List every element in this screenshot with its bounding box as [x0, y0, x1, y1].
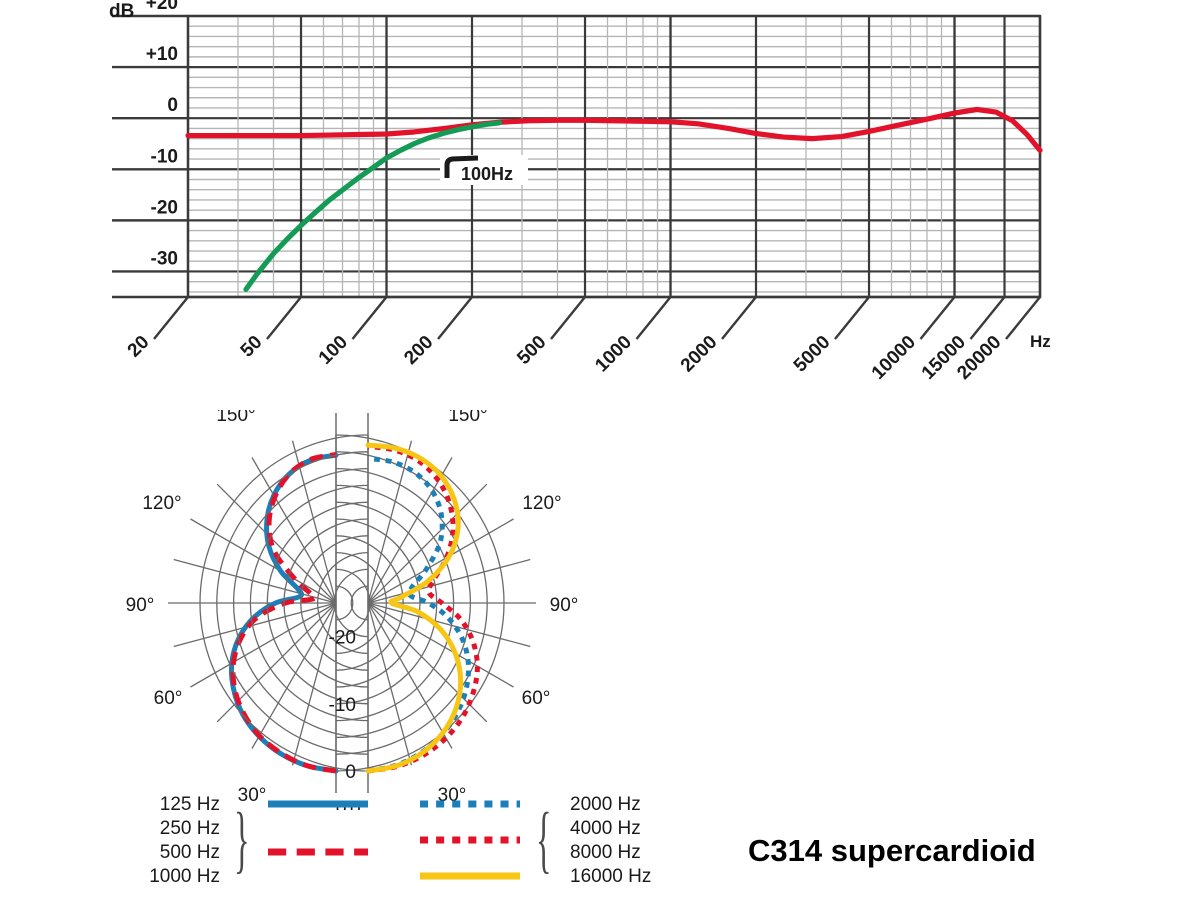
polar-db-label: 0 [345, 762, 356, 783]
x-tick-leader [267, 297, 301, 339]
x-tick-leader [551, 297, 585, 339]
polar-db-label: -20 [329, 628, 356, 649]
legend: 125 Hz250 Hz500 Hz1000 Hz} {2000 Hz4000 … [100, 788, 740, 898]
x-tick-label: 500 [513, 332, 550, 369]
polar-angle-label-right: 150° [448, 410, 487, 426]
legend-label-right: 4000 Hz [570, 818, 641, 839]
x-tick-leader [637, 297, 671, 339]
polar-grid-radial [368, 603, 411, 765]
polar-grid-radial [191, 603, 336, 687]
x-tick-leader [353, 297, 387, 339]
y-tick-label: -10 [151, 146, 178, 167]
polar-grid-radial [368, 603, 513, 687]
legend-brace-left: } [234, 796, 249, 881]
x-tick-leader [438, 297, 472, 339]
model-title-container: C314 supercardioid [748, 833, 1036, 869]
legend-label-left: 500 Hz [160, 842, 220, 863]
frequency-response-chart: +20+100-10-20-30 20501002005001000200050… [0, 0, 1200, 380]
polar-grid-ring [351, 586, 368, 620]
polar-angle-label-left: 60° [154, 688, 183, 709]
x-tick-label: 100 [315, 332, 352, 369]
spec-sheet-page: +20+100-10-20-30 20501002005001000200050… [0, 0, 1200, 900]
legend-label-left: 250 Hz [160, 818, 220, 839]
x-tick-label: 50 [237, 332, 267, 362]
legend-brace-right: { [536, 796, 551, 881]
polar-db-label: -10 [329, 695, 356, 716]
y-tick-label: -20 [151, 197, 178, 218]
x-tick-leader [154, 297, 188, 339]
hz-unit-label: Hz [1030, 332, 1051, 351]
x-tick-leader [921, 297, 955, 339]
polar-curve [368, 446, 477, 771]
response-curve [246, 123, 500, 290]
polar-angle-label-right: 90° [550, 595, 579, 616]
polar-angle-label-left: 120° [142, 493, 181, 514]
x-tick-leader [722, 297, 756, 339]
polar-pattern-diagrams: 0°0°30°30°60°60°90°90°120°120°150°150°18… [100, 410, 740, 810]
highpass-filter-annotation: 100Hz [440, 155, 528, 185]
polar-grid-ring [336, 586, 353, 620]
legend-right-column: {2000 Hz4000 Hz8000 Hz16000 Hz [420, 794, 651, 887]
legend-label-left: 1000 Hz [149, 866, 220, 887]
page-title: C314 supercardioid [748, 833, 1036, 868]
legend-label-left: 125 Hz [160, 794, 220, 815]
legend-label-right: 8000 Hz [570, 842, 641, 863]
x-tick-label: 1000 [591, 332, 636, 377]
response-curve [188, 110, 1040, 151]
x-tick-leader [835, 297, 869, 339]
polar-angle-label-left: 150° [216, 410, 255, 426]
y-tick-label: +20 [146, 0, 178, 14]
y-tick-label: -30 [151, 248, 178, 269]
legend-label-right: 2000 Hz [570, 794, 641, 815]
polar-angle-label-right: 60° [522, 688, 551, 709]
frequency-x-tick-labels: 2050100200500100020005000100001500020000 [124, 297, 1040, 380]
y-tick-label: +10 [146, 44, 178, 65]
polar-grid-radial [191, 519, 336, 603]
polar-angle-label-right: 120° [522, 493, 561, 514]
filter-label: 100Hz [461, 164, 513, 184]
legend-left-column: 125 Hz250 Hz500 Hz1000 Hz} [149, 794, 368, 887]
polar-chart-right [200, 413, 536, 793]
polar-grid-radial [368, 441, 411, 603]
polar-grid-radial [252, 603, 336, 748]
plot-border [188, 16, 1040, 297]
frequency-grid [188, 16, 1040, 297]
polar-angle-label-left: 90° [126, 595, 155, 616]
legend-label-right: 16000 Hz [570, 866, 651, 887]
frequency-axes [112, 16, 1040, 297]
x-tick-label: 200 [400, 332, 437, 369]
polar-grid-radial [368, 519, 513, 603]
x-tick-label: 2000 [677, 332, 722, 377]
frequency-y-tick-labels: +20+100-10-20-30 [146, 0, 178, 269]
y-tick-label: 0 [167, 95, 178, 116]
x-tick-label: 5000 [790, 332, 835, 377]
x-tick-label: 20 [124, 332, 154, 362]
x-tick-leader [971, 297, 1005, 339]
db-unit-label: dB [109, 1, 134, 22]
x-tick-label: 10000 [868, 332, 920, 380]
